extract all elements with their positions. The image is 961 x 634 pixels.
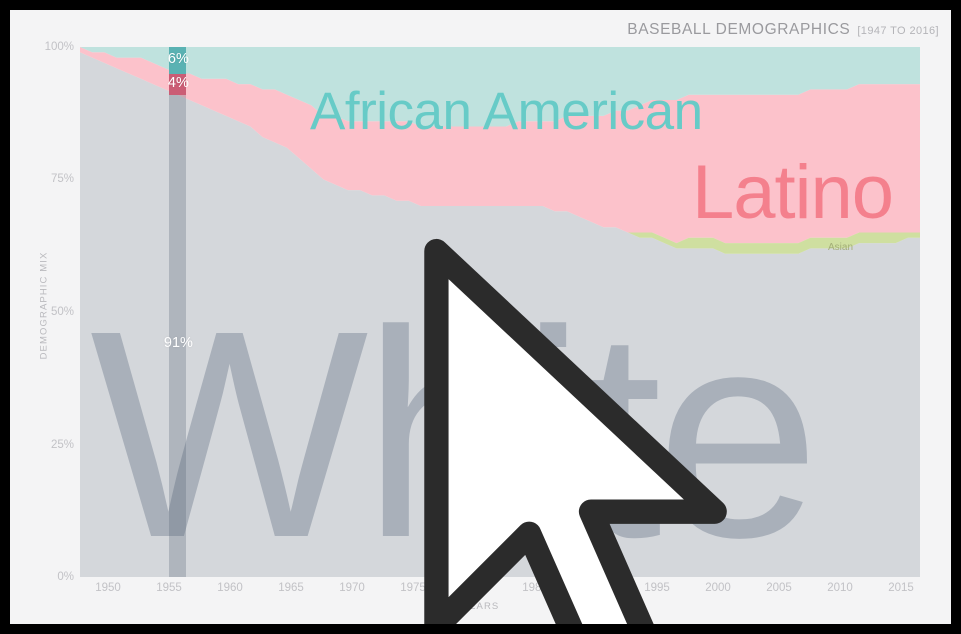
x-tick-1965: 1965 — [269, 582, 313, 594]
chart-frame: BASEBALL DEMOGRAPHICS [1947 TO 2016] DEM… — [10, 10, 951, 624]
x-tick-1950: 1950 — [86, 582, 130, 594]
x-tick-1975: 1975 — [391, 582, 435, 594]
x-tick-1960: 1960 — [208, 582, 252, 594]
x-tick-2015: 2015 — [879, 582, 923, 594]
x-axis-label: YEARS — [10, 601, 951, 612]
y-tick-50: 50% — [34, 306, 74, 318]
page-subtitle: [1947 TO 2016] — [857, 25, 939, 37]
x-tick-1955: 1955 — [147, 582, 191, 594]
x-tick-2000: 2000 — [696, 582, 740, 594]
plot-area[interactable]: White African American Latino Asian 6% 4… — [80, 47, 920, 577]
x-tick-1990: 1990 — [574, 582, 618, 594]
y-tick-75: 75% — [34, 173, 74, 185]
x-tick-2005: 2005 — [757, 582, 801, 594]
page-title: BASEBALL DEMOGRAPHICS — [627, 21, 850, 39]
x-tick-1980: 1980 — [452, 582, 496, 594]
x-tick-1995: 1995 — [635, 582, 679, 594]
y-tick-25: 25% — [34, 439, 74, 451]
chart-header: BASEBALL DEMOGRAPHICS [1947 TO 2016] — [627, 21, 939, 39]
x-tick-1970: 1970 — [330, 582, 374, 594]
x-tick-1985: 1985 — [513, 582, 557, 594]
area-series-group — [80, 47, 920, 577]
y-tick-0: 0% — [34, 571, 74, 583]
y-tick-100: 100% — [34, 41, 74, 53]
x-tick-2010: 2010 — [818, 582, 862, 594]
stacked-area-chart — [80, 47, 920, 577]
